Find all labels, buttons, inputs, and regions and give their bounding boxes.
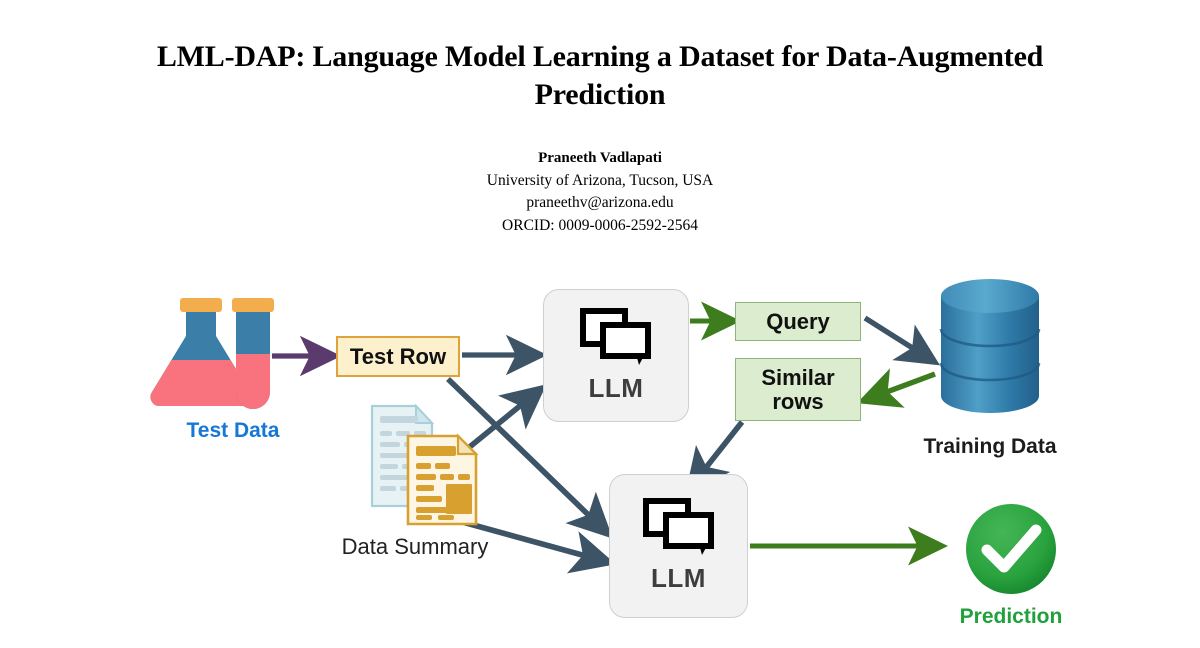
- node-llm-top[interactable]: LLM: [543, 289, 689, 422]
- node-prediction-label: Prediction: [935, 605, 1087, 629]
- architecture-diagram: Test Data Test Row LLM Query: [0, 262, 1200, 648]
- node-query[interactable]: Query: [735, 302, 861, 341]
- node-test-row[interactable]: Test Row: [336, 336, 460, 377]
- page-root: LML-DAP: Language Model Learning a Datas…: [0, 0, 1200, 648]
- node-data-summary: Data Summary: [320, 402, 510, 560]
- chat-bubbles-icon: [642, 498, 716, 561]
- node-query-label: Query: [766, 310, 830, 333]
- author-block: Praneeth Vadlapati University of Arizona…: [300, 148, 900, 237]
- node-llm-bottom-label: LLM: [651, 563, 706, 594]
- author-affiliation: University of Arizona, Tucson, USA: [300, 170, 900, 192]
- node-training-data: Training Data: [905, 274, 1075, 459]
- node-data-summary-label: Data Summary: [320, 534, 510, 560]
- flask-and-test-tube-icon: [138, 280, 318, 415]
- page-title: LML-DAP: Language Model Learning a Datas…: [150, 38, 1050, 115]
- node-prediction: Prediction: [935, 502, 1087, 629]
- node-training-data-label: Training Data: [905, 435, 1075, 459]
- chat-bubbles-icon: [579, 308, 653, 371]
- documents-icon: [320, 514, 510, 531]
- author-email: praneethv@arizona.edu: [300, 192, 900, 214]
- node-test-data: Test Data: [138, 280, 328, 443]
- node-similar-rows-line2: rows: [772, 389, 823, 414]
- database-cylinder-icon: [905, 413, 1075, 430]
- node-test-row-label: Test Row: [350, 344, 446, 370]
- author-name: Praneeth Vadlapati: [300, 148, 900, 170]
- node-similar-rows-label: Similar rows: [761, 366, 834, 413]
- check-circle-icon: [935, 583, 1087, 600]
- node-similar-rows-line1: Similar: [761, 365, 834, 390]
- node-llm-bottom[interactable]: LLM: [609, 474, 748, 618]
- node-llm-top-label: LLM: [589, 373, 644, 404]
- author-orcid: ORCID: 0009-0006-2592-2564: [300, 215, 900, 237]
- node-similar-rows[interactable]: Similar rows: [735, 358, 861, 421]
- node-test-data-label: Test Data: [138, 419, 328, 443]
